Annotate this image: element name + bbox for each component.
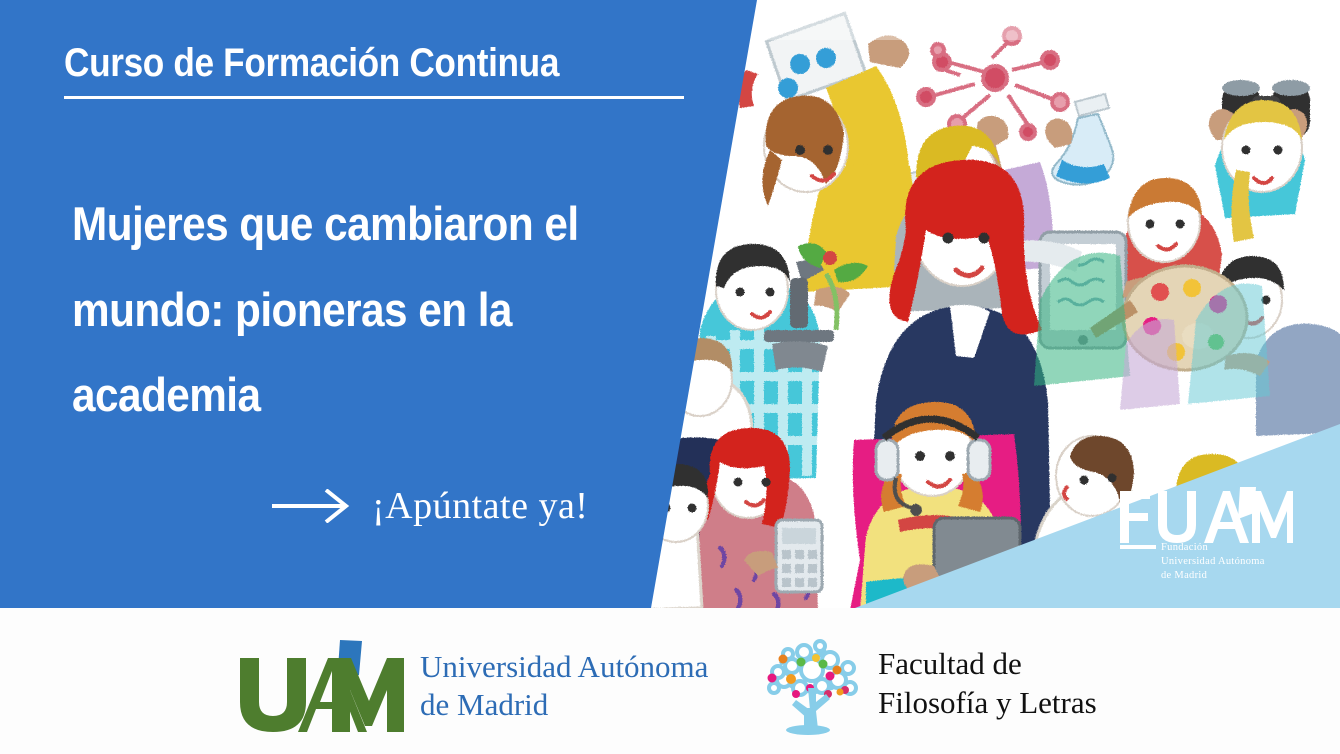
headline-line-2: mundo: pioneras en la (72, 267, 612, 353)
faculty-text-line-2: Filosofía y Letras (878, 684, 1097, 723)
long-right-arrow-icon (270, 489, 354, 523)
kicker-underline (64, 96, 684, 99)
tree-of-circles-icon (760, 632, 860, 736)
headline-line-1: Mujeres que cambiaron el (72, 181, 612, 267)
fuam-logo: Fundación Universidad Autónoma de Madrid (1118, 487, 1298, 592)
uam-text-line-1: Universidad Autónoma (420, 648, 708, 686)
faculty-logo: Facultad de Filosofía y Letras (760, 632, 1097, 736)
banner-region: Curso de Formación Continua Mujeres que … (0, 0, 1340, 608)
page-title: Mujeres que cambiaron el mundo: pioneras… (72, 181, 612, 438)
fuam-sub-line-3: de Madrid (1161, 569, 1265, 583)
uam-mark-icon (236, 640, 404, 732)
fuam-sub-text: Fundación Universidad Autónoma de Madrid (1161, 541, 1265, 584)
fuam-wordmark-icon (1118, 487, 1293, 549)
signup-cta[interactable]: ¡Apúntate ya! (270, 487, 588, 525)
poster-canvas: Curso de Formación Continua Mujeres que … (0, 0, 1340, 754)
signup-cta-label: ¡Apúntate ya! (372, 487, 588, 525)
uam-wordmark-text: Universidad Autónoma de Madrid (420, 648, 708, 724)
uam-logo: Universidad Autónoma de Madrid (236, 640, 708, 732)
fuam-sub-line-2: Universidad Autónoma (1161, 555, 1265, 569)
headline-line-3: academia (72, 352, 612, 438)
faculty-wordmark-text: Facultad de Filosofía y Letras (878, 645, 1097, 723)
headline-column: Curso de Formación Continua Mujeres que … (0, 0, 700, 608)
uam-text-line-2: de Madrid (420, 686, 708, 724)
kicker-text: Curso de Formación Continua (64, 42, 614, 84)
faculty-text-line-1: Facultad de (878, 645, 1097, 684)
fuam-sub-line-1: Fundación (1161, 541, 1265, 555)
